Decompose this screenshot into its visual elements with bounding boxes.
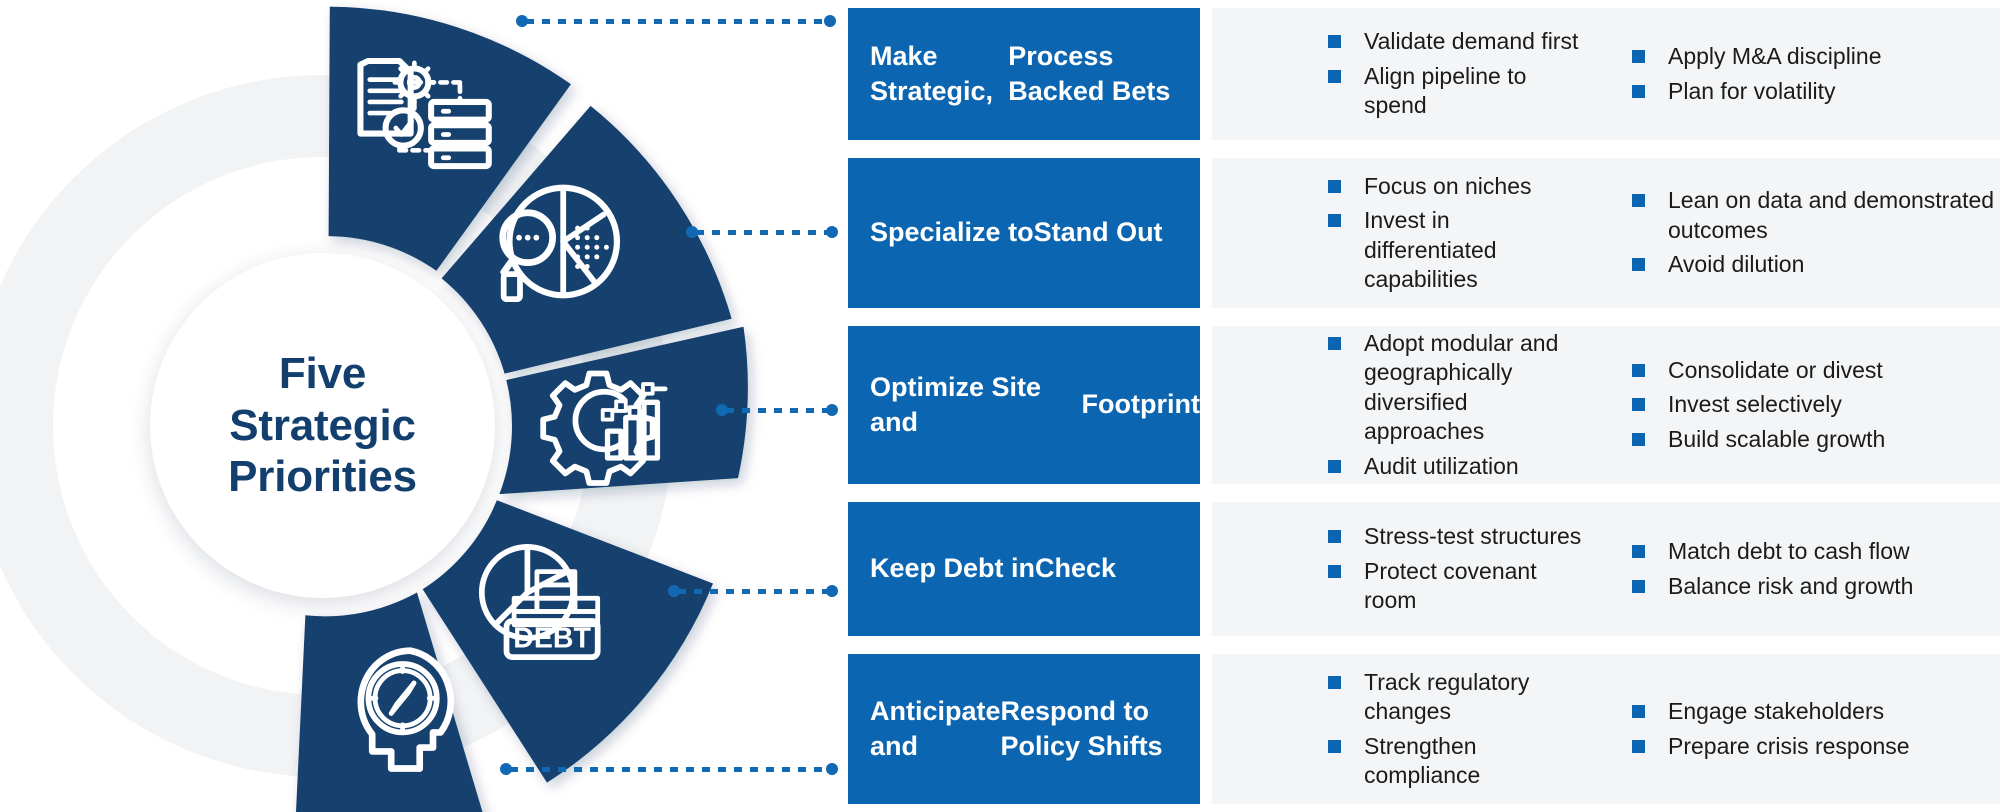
bullet-text: Track regulatory changes (1364, 669, 1529, 724)
bullet-item: Invest selectively (1632, 390, 2000, 419)
bullet-text: Stress-test structures (1364, 523, 1581, 549)
bullet-text: Apply M&A discipline (1668, 43, 1882, 69)
bullet-square-icon (1328, 530, 1341, 543)
bullet-item: Adopt modular and geographically diversi… (1328, 329, 1584, 447)
infographic-canvas: DEBT Five Strategic Priorities (0, 0, 2000, 812)
bullet-item: Plan for volatility (1632, 77, 2000, 106)
connector-dots (726, 408, 828, 413)
connector-line-4 (668, 585, 838, 597)
bullet-square-icon (1632, 545, 1645, 558)
bullet-text: Adopt modular and geographically diversi… (1364, 330, 1558, 444)
bullet-item: Balance risk and growth (1632, 572, 2000, 601)
connector-dot-end (824, 15, 836, 27)
connector-line-3 (716, 404, 838, 416)
bullet-square-icon (1632, 194, 1645, 207)
connector-line-2 (686, 226, 838, 238)
connector-dot-end (826, 404, 838, 416)
row-3-bullets-panel: Adopt modular and geographically diversi… (1212, 326, 2000, 484)
row-2-header[interactable]: Specialize toStand Out (848, 158, 1200, 308)
row-1-header[interactable]: Make Strategic,Process Backed Bets (848, 8, 1200, 140)
bullet-text: Audit utilization (1364, 453, 1519, 479)
bullet-text: Build scalable growth (1668, 426, 1885, 452)
bullet-square-icon (1328, 565, 1341, 578)
row-2-bullet-column-2: Lean on data and demonstrated outcomes A… (1584, 186, 2000, 279)
bullet-item: Build scalable growth (1632, 425, 2000, 454)
bullet-item: Validate demand first (1328, 27, 1584, 56)
connector-dot-end (826, 226, 838, 238)
bullet-square-icon (1328, 35, 1341, 48)
row-4-bullet-column-2: Match debt to cash flow Balance risk and… (1584, 537, 2000, 601)
bullet-square-icon (1328, 70, 1341, 83)
bullet-square-icon (1632, 258, 1645, 271)
bullet-text: Validate demand first (1364, 28, 1578, 54)
bullet-text: Avoid dilution (1668, 251, 1804, 277)
row-1-bullets-panel: Validate demand first Align pipeline to … (1212, 8, 2000, 140)
row-2-bullets-panel: Focus on niches Invest in differentiated… (1212, 158, 2000, 308)
bullet-item: Engage stakeholders (1632, 697, 2000, 726)
bullet-square-icon (1632, 85, 1645, 98)
bullet-text: Invest in differentiated capabilities (1364, 207, 1497, 292)
row-3-header[interactable]: Optimize Site andFootprint (848, 326, 1200, 484)
bullet-item: Stress-test structures (1328, 522, 1584, 551)
bullet-text: Consolidate or divest (1668, 357, 1883, 383)
bullet-text: Prepare crisis response (1668, 733, 1910, 759)
bullet-square-icon (1328, 460, 1341, 473)
priority-row-3: Optimize Site andFootprint Adopt modular… (848, 326, 2000, 484)
bullet-item: Lean on data and demonstrated outcomes (1632, 186, 2000, 245)
bullet-text: Invest selectively (1668, 391, 1842, 417)
bullet-text: Focus on niches (1364, 173, 1531, 199)
bullet-item: Audit utilization (1328, 452, 1584, 481)
bullet-item: Prepare crisis response (1632, 732, 2000, 761)
row-1-bullet-column-1: Validate demand first Align pipeline to … (1212, 27, 1584, 120)
connector-line-1 (516, 15, 836, 27)
center-hub: Five Strategic Priorities (150, 253, 495, 598)
bullet-item: Protect covenant room (1328, 557, 1584, 616)
hub-title-line-3: Priorities (228, 451, 417, 503)
bullet-text: Align pipeline to spend (1364, 63, 1526, 118)
bullet-square-icon (1328, 214, 1341, 227)
row-5-header[interactable]: Anticipate andRespond to Policy Shifts (848, 654, 1200, 804)
bullet-item: Avoid dilution (1632, 250, 2000, 279)
bullet-square-icon (1632, 580, 1645, 593)
priority-row-4: Keep Debt inCheck Stress-test structures… (848, 502, 2000, 636)
connector-dots (526, 19, 826, 24)
priority-row-5: Anticipate andRespond to Policy Shifts T… (848, 654, 2000, 804)
bullet-item: Apply M&A discipline (1632, 42, 2000, 71)
connector-line-5 (500, 763, 838, 775)
bullet-square-icon (1328, 337, 1341, 350)
bullet-square-icon (1632, 705, 1645, 718)
connector-dot-end (826, 763, 838, 775)
bullet-item: Strengthen compliance (1328, 732, 1584, 791)
hub-title-line-1: Five (228, 348, 417, 400)
connector-dots (678, 589, 828, 594)
bullet-item: Consolidate or divest (1632, 356, 2000, 385)
bullet-square-icon (1632, 433, 1645, 446)
connector-dots (510, 767, 828, 772)
row-5-bullet-column-2: Engage stakeholders Prepare crisis respo… (1584, 697, 2000, 761)
debt-label: DEBT (513, 623, 591, 655)
bullet-text: Strengthen compliance (1364, 733, 1480, 788)
bullet-item: Match debt to cash flow (1632, 537, 2000, 566)
priority-row-1: Make Strategic,Process Backed Bets Valid… (848, 8, 2000, 140)
row-5-bullets-panel: Track regulatory changes Strengthen comp… (1212, 654, 2000, 804)
row-3-bullet-column-2: Consolidate or divest Invest selectively… (1584, 356, 2000, 454)
bullet-square-icon (1632, 50, 1645, 63)
bullet-square-icon (1632, 364, 1645, 377)
row-4-bullet-column-1: Stress-test structures Protect covenant … (1212, 522, 1584, 615)
row-4-bullets-panel: Stress-test structures Protect covenant … (1212, 502, 2000, 636)
priority-row-2: Specialize toStand Out Focus on niches I… (848, 158, 2000, 308)
row-4-header[interactable]: Keep Debt inCheck (848, 502, 1200, 636)
priority-rows: Make Strategic,Process Backed Bets Valid… (848, 0, 2000, 812)
bullet-square-icon (1328, 676, 1341, 689)
row-1-bullet-column-2: Apply M&A discipline Plan for volatility (1584, 42, 2000, 106)
bullet-text: Protect covenant room (1364, 558, 1537, 613)
bullet-text: Engage stakeholders (1668, 698, 1884, 724)
bullet-text: Balance risk and growth (1668, 573, 1913, 599)
bullet-square-icon (1328, 740, 1341, 753)
bullet-text: Lean on data and demonstrated outcomes (1668, 187, 1994, 242)
bullet-item: Track regulatory changes (1328, 668, 1584, 727)
bullet-item: Invest in differentiated capabilities (1328, 206, 1584, 294)
row-2-bullet-column-1: Focus on niches Invest in differentiated… (1212, 172, 1584, 295)
hub-title: Five Strategic Priorities (228, 348, 417, 504)
row-5-bullet-column-1: Track regulatory changes Strengthen comp… (1212, 668, 1584, 791)
bullet-square-icon (1632, 398, 1645, 411)
bullet-text: Match debt to cash flow (1668, 538, 1910, 564)
bullet-item: Focus on niches (1328, 172, 1584, 201)
bullet-square-icon (1328, 180, 1341, 193)
connector-dots (696, 230, 828, 235)
connector-dot-end (826, 585, 838, 597)
bullet-text: Plan for volatility (1668, 78, 1835, 104)
hub-title-line-2: Strategic (228, 400, 417, 452)
bullet-item: Align pipeline to spend (1328, 62, 1584, 121)
row-3-bullet-column-1: Adopt modular and geographically diversi… (1212, 329, 1584, 481)
bullet-square-icon (1632, 740, 1645, 753)
